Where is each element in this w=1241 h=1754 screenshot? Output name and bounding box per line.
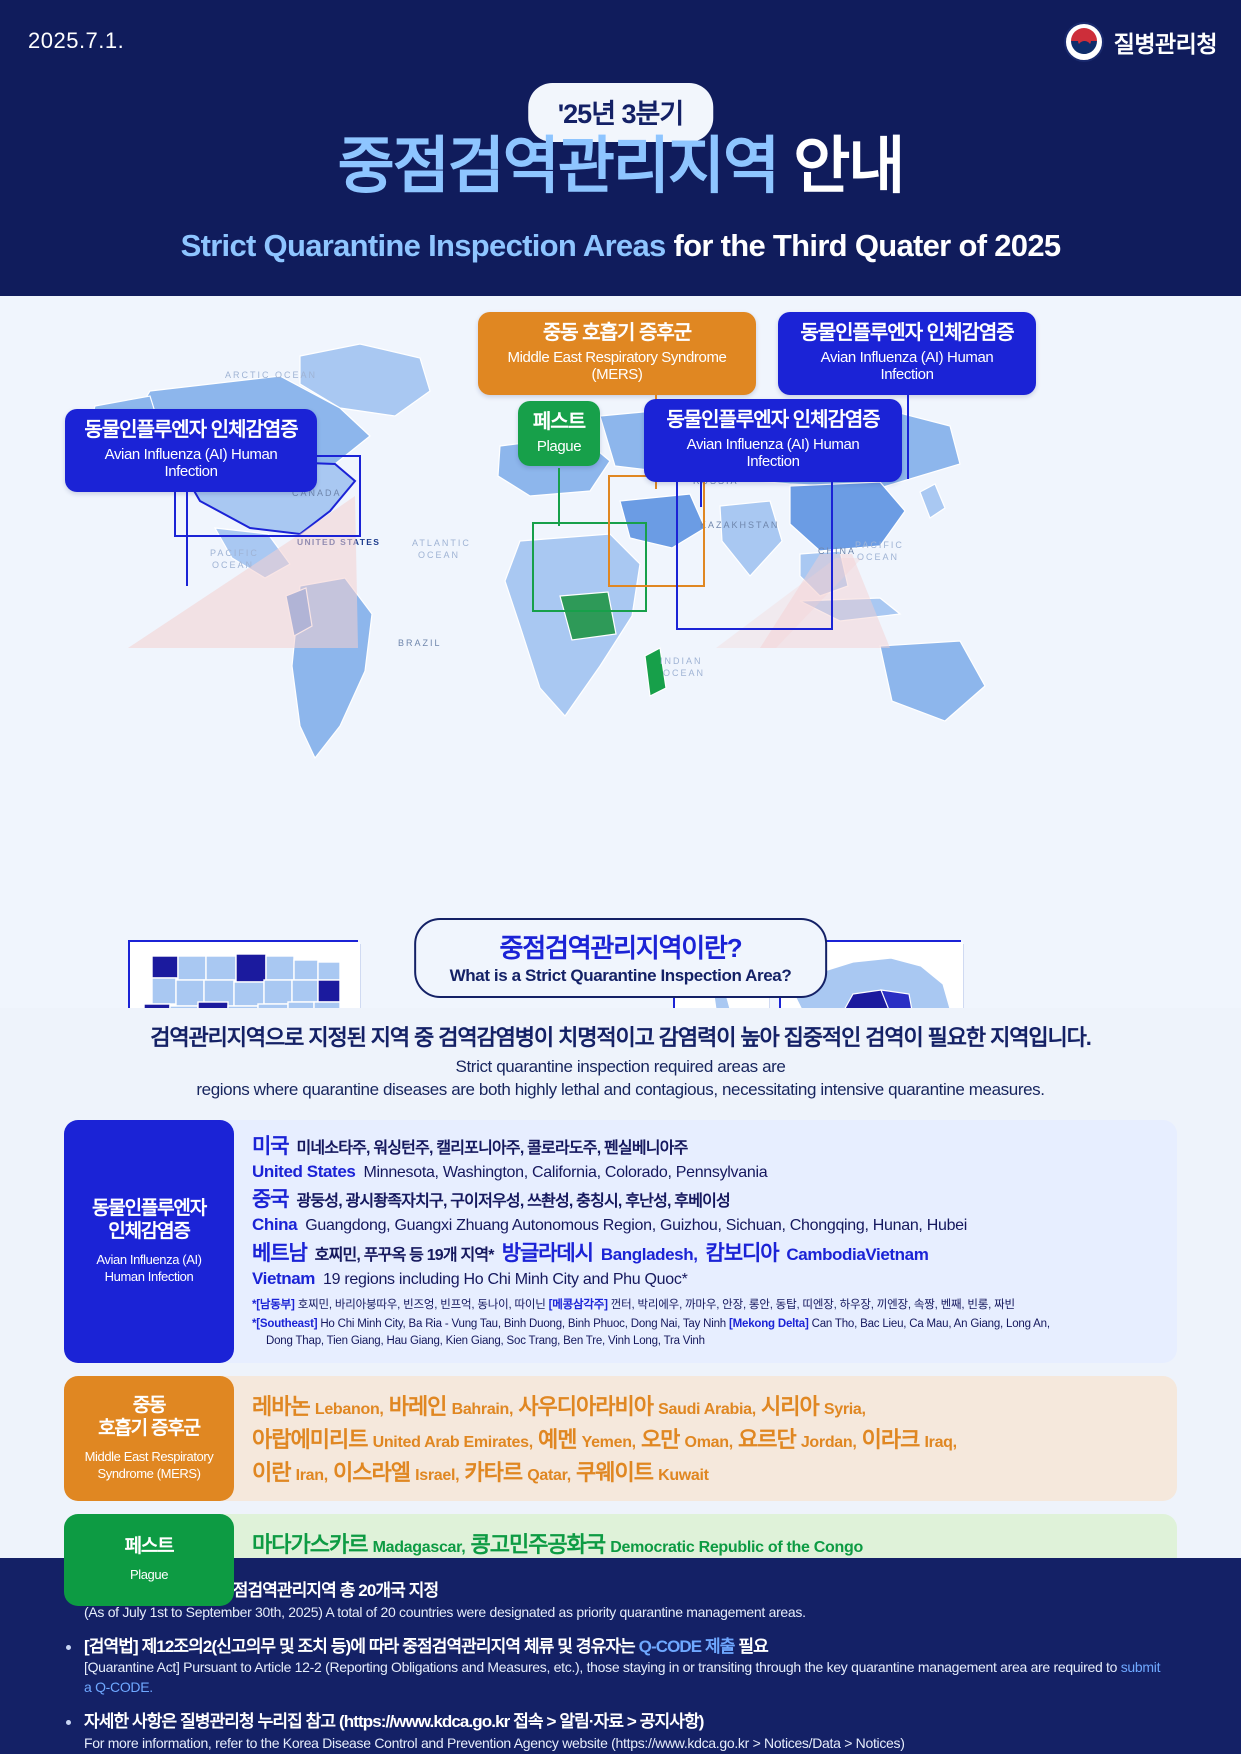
definition-en-line2: regions where quarantine diseases are bo… xyxy=(0,1079,1241,1102)
country-ko-vn: 베트남 xyxy=(252,1241,307,1267)
map-label-avian-influenza-americas: 동물인플루엔자 인체감염증 Avian Influenza (AI) Human… xyxy=(65,409,317,492)
mers-country-line-1: 레바논 Lebanon, 바레인 Bahrain, 사우디아라비아 Saudi … xyxy=(252,1390,1161,1423)
what-is-en: What is a Strict Quarantine Inspection A… xyxy=(450,966,792,986)
map-label-ko: 페스트 xyxy=(524,411,594,434)
definition-en-line1: Strict quarantine inspection required ar… xyxy=(0,1056,1241,1079)
usa-states-map xyxy=(130,942,360,1008)
footer-item-3[interactable]: 자세한 사항은 질병관리청 누리집 참고 (https://www.kdca.g… xyxy=(84,1711,1171,1754)
mers-ko-10: 이스라엘 xyxy=(333,1460,410,1485)
footer-item-3-en: For more information, refer to the Korea… xyxy=(84,1734,1171,1754)
block-tag-avian-influenza: 동물인플루엔자 인체감염증 Avian Influenza (AI) Human… xyxy=(64,1120,234,1363)
mers-en-7: Jordan, xyxy=(801,1434,857,1451)
svg-text:OCEAN: OCEAN xyxy=(663,668,705,678)
mers-en-3: Syria, xyxy=(824,1401,866,1418)
map-label-en: Middle East Respiratory Syndrome (MERS) xyxy=(494,349,740,384)
mers-ko-3: 시리아 xyxy=(761,1394,819,1419)
plague-en-0: Madagascar, xyxy=(373,1539,466,1556)
map-label-ko: 동물인플루엔자 인체감염증 xyxy=(794,322,1020,345)
mers-ko-1: 바레인 xyxy=(389,1394,447,1419)
footnote-en-label2: [Mekong Delta] xyxy=(729,1318,809,1330)
regions-ko-us: 미네소타주, 워싱턴주, 캘리포니아주, 콜로라도주, 펜실베니아주 xyxy=(296,1134,687,1158)
footnote-ko-part1: 호찌민, 바리아붕따우, 빈즈엉, 빈프억, 동나이, 따이닌 xyxy=(298,1299,546,1311)
map-label-en: Avian Influenza (AI) Human Infection xyxy=(81,446,301,481)
leader-line-eastasia-top xyxy=(907,384,909,479)
block-avian-influenza: 동물인플루엔자 인체감염증 Avian Influenza (AI) Human… xyxy=(64,1120,1177,1363)
footer-item-2-ko-highlight: Q-CODE 제출 xyxy=(639,1637,735,1656)
plague-country-line-1: 마다가스카르 Madagascar, 콩고민주공화국 Democratic Re… xyxy=(252,1528,1161,1561)
tag-en-line1: Middle East Respiratory xyxy=(85,1449,214,1464)
page-title-english: Strict Quarantine Inspection Areas for t… xyxy=(0,228,1241,264)
footer-item-1-en: (As of July 1st to September 30th, 2025)… xyxy=(84,1603,1171,1623)
tag-en-line2: Human Infection xyxy=(105,1269,194,1284)
publish-date: 2025.7.1. xyxy=(28,28,124,54)
mers-ko-8: 이라크 xyxy=(862,1427,920,1452)
mers-ko-5: 예멘 xyxy=(538,1427,576,1452)
mers-ko-9: 이란 xyxy=(252,1460,290,1485)
footer-item-2-ko: [검역법] 제12조의2(신고의무 및 조치 등)에 따라 중점검역관리지역 체… xyxy=(84,1636,1171,1659)
footnote-en-part1: Ho Chi Minh City, Ba Ria - Vung Tau, Bin… xyxy=(320,1318,726,1330)
mers-ko-12: 쿠웨이트 xyxy=(576,1460,653,1485)
mers-ko-7: 요르단 xyxy=(738,1427,796,1452)
footer-item-2-ko-a: [검역법] 제12조의2(신고의무 및 조치 등)에 따라 중점검역관리지역 체… xyxy=(84,1637,639,1656)
mers-ko-0: 레바논 xyxy=(252,1394,310,1419)
country-en-us: United States xyxy=(252,1161,355,1183)
svg-text:OCEAN: OCEAN xyxy=(857,552,899,562)
country-en-kh: CambodiaVietnam xyxy=(786,1244,928,1266)
bullet-icon xyxy=(66,1645,71,1650)
footnote-ko-label2: [메콩삼각주] xyxy=(549,1299,608,1311)
block-body-mers: 레바논 Lebanon, 바레인 Bahrain, 사우디아라비아 Saudi … xyxy=(222,1376,1177,1501)
map-label-mers: 중동 호흡기 증후군 Middle East Respiratory Syndr… xyxy=(478,312,756,395)
mers-en-11: Qatar, xyxy=(527,1467,571,1484)
svg-text:KAZAKHSTAN: KAZAKHSTAN xyxy=(700,520,779,530)
mers-ko-2: 사우디아라비아 xyxy=(518,1394,653,1419)
page-header: 2025.7.1. 질병관리청 '25년 3분기 중점검역관리지역 안내 Str… xyxy=(0,0,1241,296)
plague-ko-1: 콩고민주공화국 xyxy=(470,1532,605,1557)
footnote-en-part2: Can Tho, Bac Lieu, Ca Mau, An Giang, Lon… xyxy=(812,1318,1050,1330)
country-ko-kh: 캄보디아 xyxy=(706,1241,779,1267)
footnote-en-label1: *[Southeast] xyxy=(252,1318,317,1330)
page-title-ko-suffix: 안내 xyxy=(793,132,903,201)
tag-en-line1: Avian Influenza (AI) xyxy=(96,1252,201,1267)
mers-en-1: Bahrain, xyxy=(452,1401,514,1418)
regions-en-us: Minnesota, Washington, California, Color… xyxy=(363,1164,767,1182)
definition-ko: 검역관리지역으로 지정된 지역 중 검역감염병이 치명적이고 감염력이 높아 집… xyxy=(0,1020,1241,1052)
row-vn-en: Vietnam 19 regions including Ho Chi Minh… xyxy=(252,1268,1161,1290)
footer-item-1: ('25.7.1.~9.30.기준) 중점검역관리지역 총 20개국 지정 (A… xyxy=(84,1580,1171,1623)
footer-item-1-ko: ('25.7.1.~9.30.기준) 중점검역관리지역 총 20개국 지정 xyxy=(84,1580,1171,1603)
footer-item-2-ko-b: 필요 xyxy=(735,1637,768,1656)
regions-en-vn: 19 regions including Ho Chi Minh City an… xyxy=(323,1271,687,1289)
country-en-cn: China xyxy=(252,1214,297,1236)
svg-text:OCEAN: OCEAN xyxy=(418,550,460,560)
footnote-ko: *[남동부] 호찌민, 바리아붕따우, 빈즈엉, 빈프억, 동나이, 따이닌 [… xyxy=(252,1297,1161,1314)
country-en-bd: Bangladesh, xyxy=(601,1244,698,1266)
footer-item-2-en: [Quarantine Act] Pursuant to Article 12-… xyxy=(84,1658,1171,1697)
country-ko-us: 미국 xyxy=(252,1134,288,1160)
tag-en-line2: Syndrome (MERS) xyxy=(97,1466,200,1481)
svg-text:ARCTIC OCEAN: ARCTIC OCEAN xyxy=(225,370,317,380)
plague-ko-0: 마다가스카르 xyxy=(252,1532,367,1557)
what-is-badge: 중점검역관리지역이란? What is a Strict Quarantine … xyxy=(414,918,828,998)
row-cn-ko: 중국 광둥성, 광시좡족자치구, 구이저우성, 쓰촨성, 충칭시, 후난성, 후… xyxy=(252,1187,1161,1213)
mers-en-2: Saudi Arabia, xyxy=(658,1401,756,1418)
row-vn-ko: 베트남 호찌민, 푸꾸옥 등 19개 지역* 방글라데시 Bangladesh,… xyxy=(252,1241,1161,1267)
country-en-vn: Vietnam xyxy=(252,1268,315,1290)
country-ko-cn: 중국 xyxy=(252,1187,288,1213)
infographic-page: 2025.7.1. 질병관리청 '25년 3분기 중점검역관리지역 안내 Str… xyxy=(0,0,1241,1754)
mers-en-5: Yemen, xyxy=(582,1434,636,1451)
mers-en-12: Kuwait xyxy=(658,1467,709,1484)
tag-ko: 페스트 xyxy=(125,1536,174,1557)
agency-name: 질병관리청 xyxy=(1114,25,1217,59)
kdca-taegeuk-logo-icon xyxy=(1064,22,1104,62)
map-label-en: Avian Influenza (AI) Human Infection xyxy=(794,349,1020,384)
world-map-section: ARCTIC OCEAN PACIFIC OCEAN ATLANTIC OCEA… xyxy=(0,296,1241,1008)
country-ko-bd: 방글라데시 xyxy=(502,1241,593,1267)
mers-ko-4: 아랍에미리트 xyxy=(252,1427,367,1452)
block-tag-plague: 페스트 Plague xyxy=(64,1514,234,1606)
block-body-avian-influenza: 미국 미네소타주, 워싱턴주, 캘리포니아주, 콜로라도주, 펜실베니아주 Un… xyxy=(222,1120,1177,1363)
map-label-en: Plague xyxy=(524,438,594,455)
page-title-en-suffix: for the Third Quater of 2025 xyxy=(673,228,1060,263)
map-label-avian-influenza-sea: 동물인플루엔자 인체감염증 Avian Influenza (AI) Human… xyxy=(644,399,902,482)
mers-en-8: Iraq, xyxy=(925,1434,957,1451)
mers-country-line-3: 이란 Iran, 이스라엘 Israel, 카타르 Qatar, 쿠웨이트 Ku… xyxy=(252,1456,1161,1489)
agency-logo: 질병관리청 xyxy=(1064,22,1217,62)
footnote-ko-label1: *[남동부] xyxy=(252,1299,295,1311)
map-label-ko: 동물인플루엔자 인체감염증 xyxy=(660,409,886,432)
tag-ko-line2: 인체감염증 xyxy=(108,1221,189,1242)
definition-text: 검역관리지역으로 지정된 지역 중 검역감염병이 치명적이고 감염력이 높아 집… xyxy=(0,1008,1241,1106)
svg-text:ATLANTIC: ATLANTIC xyxy=(412,538,471,548)
map-label-plague: 페스트 Plague xyxy=(518,401,600,466)
footnote-en-part3: Dong Thap, Tien Giang, Hau Giang, Kien G… xyxy=(252,1335,705,1347)
svg-text:BRAZIL: BRAZIL xyxy=(398,638,442,648)
mers-en-10: Israel, xyxy=(415,1467,459,1484)
svg-text:INDIAN: INDIAN xyxy=(660,656,703,666)
footer-item-3-ko: 자세한 사항은 질병관리청 누리집 참고 (https://www.kdca.g… xyxy=(84,1711,1171,1734)
leader-line-sea xyxy=(700,471,702,507)
mers-en-4: United Arab Emirates, xyxy=(373,1434,533,1451)
bullet-icon xyxy=(66,1720,71,1725)
regions-ko-cn: 광둥성, 광시좡족자치구, 구이저우성, 쓰촨성, 충칭시, 후난성, 후베이성 xyxy=(296,1187,730,1211)
svg-text:OCEAN: OCEAN xyxy=(212,560,254,570)
footer-item-2: [검역법] 제12조의2(신고의무 및 조치 등)에 따라 중점검역관리지역 체… xyxy=(84,1636,1171,1698)
page-title-korean: 중점검역관리지역 안내 xyxy=(0,136,1241,198)
mers-en-6: Oman, xyxy=(685,1434,733,1451)
mers-country-line-2: 아랍에미리트 United Arab Emirates, 예멘 Yemen, 오… xyxy=(252,1423,1161,1456)
what-is-ko: 중점검역관리지역이란? xyxy=(450,928,792,965)
row-us-ko: 미국 미네소타주, 워싱턴주, 캘리포니아주, 콜로라도주, 펜실베니아주 xyxy=(252,1134,1161,1160)
footer-item-2-en-a: [Quarantine Act] Pursuant to Article 12-… xyxy=(84,1659,1121,1675)
page-title-en-main: Strict Quarantine Inspection Areas xyxy=(181,228,666,263)
map-label-avian-influenza-eastasia-top: 동물인플루엔자 인체감염증 Avian Influenza (AI) Human… xyxy=(778,312,1036,395)
row-cn-en: China Guangdong, Guangxi Zhuang Autonomo… xyxy=(252,1214,1161,1236)
row-us-en: United States Minnesota, Washington, Cal… xyxy=(252,1161,1161,1183)
plague-en-1: Democratic Republic of the Congo xyxy=(610,1539,863,1556)
map-label-en: Avian Influenza (AI) Human Infection xyxy=(660,436,886,471)
tag-ko-line1: 중동 xyxy=(133,1395,166,1416)
tag-ko-line2: 호흡기 증후군 xyxy=(98,1418,200,1439)
footnote-ko-part2: 껀터, 박리에우, 까마우, 안장, 롱안, 동탑, 띠엔장, 하우장, 끼엔장… xyxy=(611,1299,1015,1311)
tag-ko-line1: 동물인플루엔자 xyxy=(92,1198,206,1219)
inset-map-united-states xyxy=(128,940,358,1008)
svg-text:PACIFIC: PACIFIC xyxy=(855,540,904,550)
mers-en-9: Iran, xyxy=(296,1467,328,1484)
page-title-ko-main: 중점검역관리지역 xyxy=(338,132,778,201)
disease-blocks: 동물인플루엔자 인체감염증 Avian Influenza (AI) Human… xyxy=(0,1106,1241,1606)
tag-en: Plague xyxy=(130,1567,168,1582)
mers-en-0: Lebanon, xyxy=(315,1401,384,1418)
leader-line-plague xyxy=(558,468,560,526)
block-tag-mers: 중동 호흡기 증후군 Middle East Respiratory Syndr… xyxy=(64,1376,234,1501)
map-label-ko: 동물인플루엔자 인체감염증 xyxy=(81,419,301,442)
mers-ko-6: 오만 xyxy=(641,1427,679,1452)
footnote-en: *[Southeast] Ho Chi Minh City, Ba Ria - … xyxy=(252,1316,1161,1351)
leader-line-americas xyxy=(186,481,188,586)
mers-ko-11: 카타르 xyxy=(464,1460,522,1485)
regions-en-cn: Guangdong, Guangxi Zhuang Autonomous Reg… xyxy=(305,1217,967,1235)
map-label-ko: 중동 호흡기 증후군 xyxy=(494,322,740,345)
svg-text:PACIFIC: PACIFIC xyxy=(210,548,259,558)
block-mers: 중동 호흡기 증후군 Middle East Respiratory Syndr… xyxy=(64,1376,1177,1501)
regions-ko-vn: 호찌민, 푸꾸옥 등 19개 지역* xyxy=(315,1241,494,1265)
